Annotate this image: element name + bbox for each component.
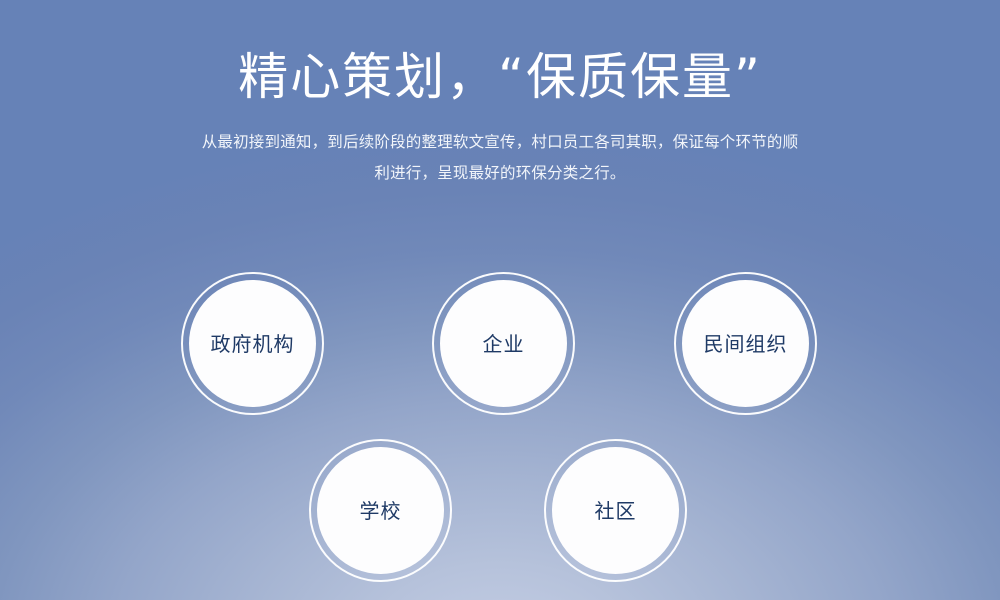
circle-node-disc: 政府机构 [189, 280, 316, 407]
circle-node-school[interactable]: 学校 [309, 439, 452, 582]
circle-node-label: 企业 [483, 334, 525, 354]
circle-node-enterprise[interactable]: 企业 [432, 272, 575, 415]
circle-node-disc: 民间组织 [682, 280, 809, 407]
circle-node-label: 民间组织 [704, 334, 788, 354]
circle-node-label: 政府机构 [211, 334, 295, 354]
circle-node-disc: 学校 [317, 447, 444, 574]
circle-node-community[interactable]: 社区 [544, 439, 687, 582]
slide-canvas: 精心策划，“保质保量” 从最初接到通知，到后续阶段的整理软文宣传，村口员工各司其… [0, 0, 1000, 600]
circle-node-disc: 企业 [440, 280, 567, 407]
circle-node-label: 社区 [595, 501, 637, 521]
circle-node-ngo[interactable]: 民间组织 [674, 272, 817, 415]
circle-node-disc: 社区 [552, 447, 679, 574]
circle-node-group: 政府机构 企业 民间组织 学校 社区 [0, 0, 1000, 600]
circle-node-government[interactable]: 政府机构 [181, 272, 324, 415]
circle-node-label: 学校 [360, 501, 402, 521]
